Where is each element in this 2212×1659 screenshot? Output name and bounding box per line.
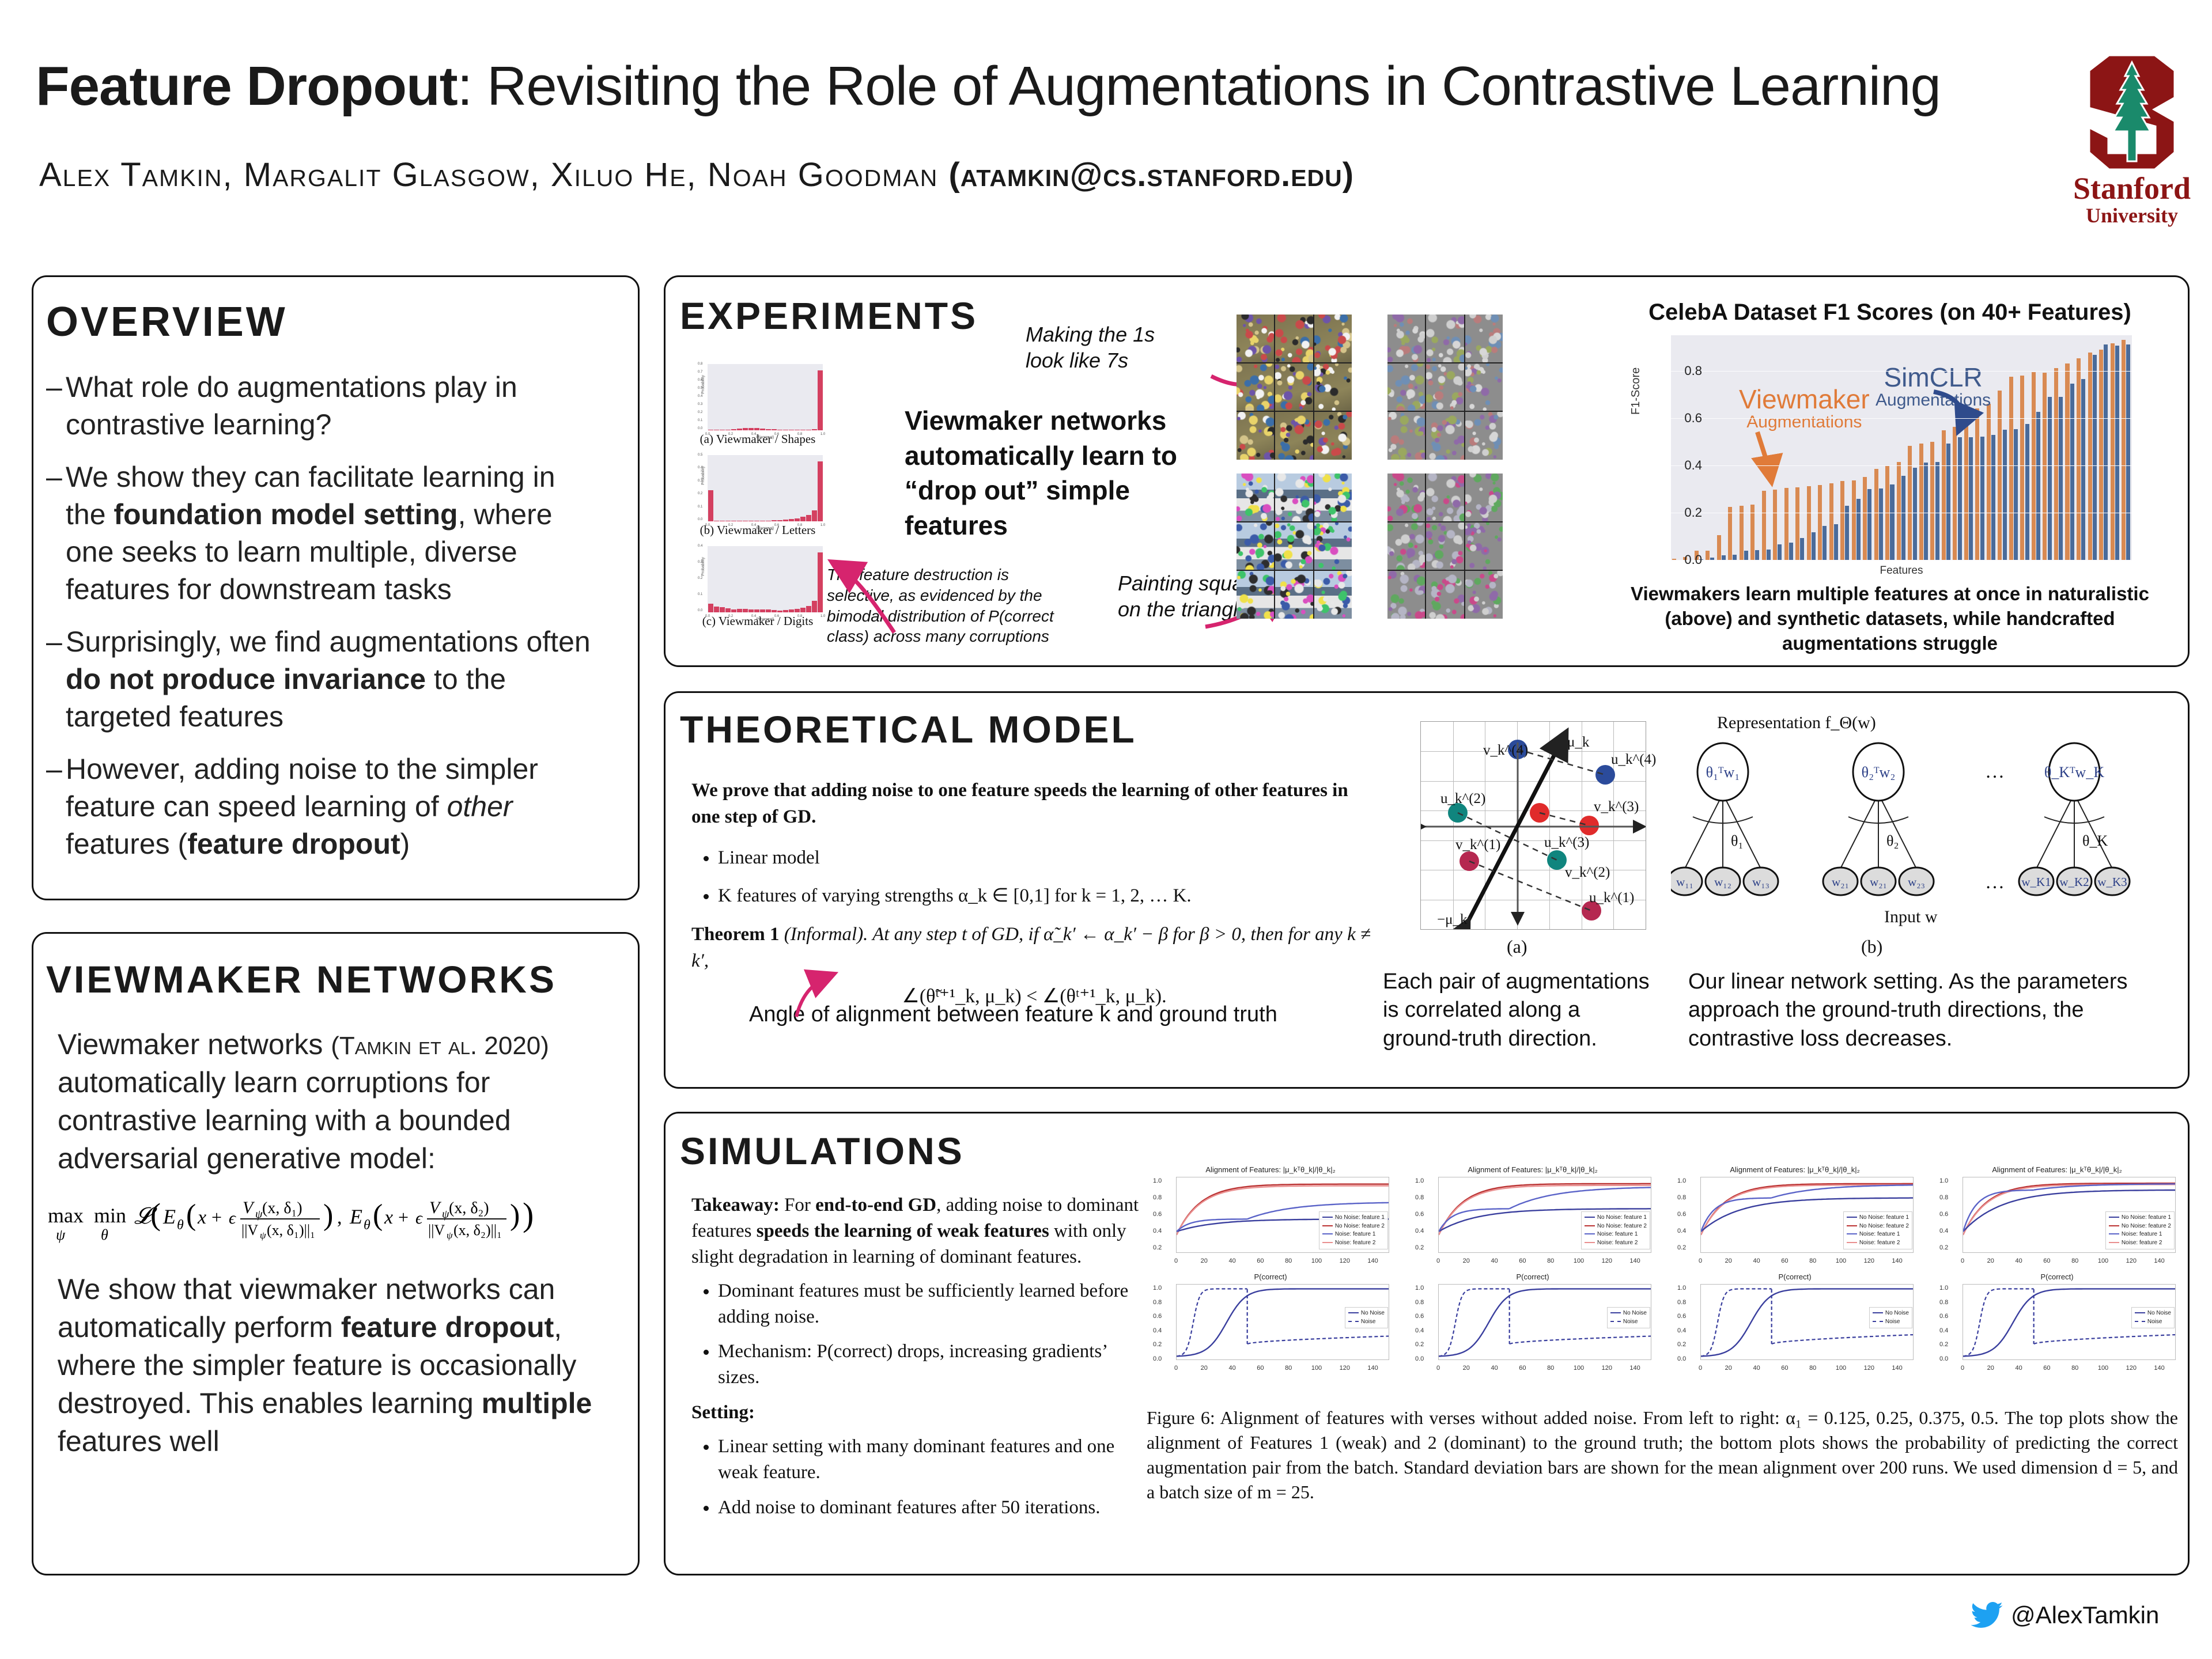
plot-x-tick: 40 bbox=[2015, 1365, 2022, 1372]
svg-text:w₂₁: w₂₁ bbox=[1832, 875, 1849, 889]
plot-y-tick: 0.6 bbox=[1153, 1313, 1162, 1320]
simulation-plot-pair-3: Alignment of Features: |μ_kᵀθ_k|/|θ_k|₂0… bbox=[1674, 1166, 1916, 1373]
histogram-bar bbox=[714, 607, 719, 612]
celeba-bar bbox=[2020, 376, 2024, 560]
histogram-y-tick: 0.0 bbox=[698, 518, 702, 521]
histogram-y-tick: 0.3 bbox=[698, 403, 702, 406]
celeba-bar bbox=[1919, 444, 1923, 560]
histogram-bar bbox=[731, 521, 736, 521]
alignment-plot-title: Alignment of Features: |μ_kᵀθ_k|/|θ_k|₂ bbox=[1150, 1165, 1392, 1174]
plot-y-tick: 1.0 bbox=[1939, 1177, 1948, 1184]
plot-y-tick: 0.8 bbox=[1677, 1299, 1686, 1306]
plot-x-tick: 140 bbox=[1629, 1365, 1640, 1372]
plot-x-tick: 100 bbox=[1574, 1365, 1584, 1372]
plot-y-tick: 0.4 bbox=[1939, 1228, 1948, 1234]
celeba-bar bbox=[1879, 488, 1883, 560]
plot-y-tick: 0.2 bbox=[1677, 1244, 1686, 1251]
plot-y-tick: 0.2 bbox=[1153, 1341, 1162, 1348]
vm-p2-c: features well bbox=[58, 1425, 220, 1457]
histogram-bar bbox=[766, 521, 771, 521]
overview-title: OVERVIEW bbox=[46, 298, 288, 346]
celeba-bar bbox=[2048, 397, 2052, 560]
plot-y-tick: 0.8 bbox=[1677, 1194, 1686, 1201]
celeba-bar bbox=[1812, 532, 1816, 560]
histogram-bar bbox=[714, 430, 719, 430]
celeba-bar bbox=[2111, 343, 2115, 560]
image-grid-car-augmented bbox=[1237, 474, 1352, 619]
image-grid-cell bbox=[1237, 412, 1274, 460]
celeba-bar bbox=[1913, 468, 1917, 560]
plot-y-tick: 0.2 bbox=[1939, 1244, 1948, 1251]
legend-entry: No Noise bbox=[1348, 1309, 1385, 1318]
image-grid-cell bbox=[1387, 522, 1425, 570]
alignment-plot-legend: No Noise: feature 1No Noise: feature 2No… bbox=[1319, 1211, 1388, 1249]
plot-x-tick: 40 bbox=[2015, 1257, 2022, 1264]
title-bold: Feature Dropout bbox=[36, 55, 457, 117]
celeba-bar bbox=[1852, 480, 1856, 560]
theory-body: We prove that adding noise to one featur… bbox=[691, 778, 1377, 1010]
plot-y-tick: 0.6 bbox=[1153, 1211, 1162, 1218]
svg-text:w_K1: w_K1 bbox=[2021, 875, 2051, 889]
image-grid-cell bbox=[1426, 315, 1464, 362]
celeba-bar bbox=[1991, 435, 1995, 560]
plot-x-tick: 80 bbox=[1285, 1365, 1292, 1372]
histogram-bar bbox=[795, 430, 800, 430]
celeba-bar bbox=[1953, 427, 1957, 560]
celeba-bar bbox=[1998, 391, 2002, 560]
image-grid-cell bbox=[1314, 315, 1352, 362]
plot-y-tick: 0.6 bbox=[1415, 1313, 1424, 1320]
plot-y-tick: 0.6 bbox=[1415, 1211, 1424, 1218]
svg-text:(x, δ₁)||₁: (x, δ₁)||₁ bbox=[267, 1222, 315, 1238]
plot-x-tick: 60 bbox=[2043, 1257, 2050, 1264]
histogram-bar bbox=[714, 521, 719, 521]
histogram-digits-plot: 0.40.30.20.10.00.00.20.40.60.81.0Probabi… bbox=[708, 546, 823, 612]
plot-x-tick: 40 bbox=[1491, 1257, 1498, 1264]
histogram-y-tick: 0.8 bbox=[698, 362, 702, 366]
plot-y-tick: 1.0 bbox=[1677, 1177, 1686, 1184]
plot-x-tick: 120 bbox=[1340, 1365, 1350, 1372]
celeba-gridline bbox=[1671, 371, 2132, 372]
histogram-bar bbox=[818, 370, 823, 430]
plot-x-tick: 140 bbox=[2154, 1365, 2164, 1372]
plot-x-tick: 80 bbox=[1809, 1257, 1816, 1264]
svg-text:(: ( bbox=[373, 1199, 383, 1232]
celeba-bar bbox=[1822, 526, 1827, 560]
theory-bullets: Linear model K features of varying stren… bbox=[691, 845, 1377, 909]
plot-y-tick: 1.0 bbox=[1153, 1177, 1162, 1184]
legend-entry: No Noise bbox=[1610, 1309, 1647, 1318]
legend-entry: No Noise: feature 2 bbox=[1322, 1222, 1385, 1231]
plot-x-tick: 100 bbox=[1836, 1257, 1846, 1264]
plot-y-tick: 0.8 bbox=[1153, 1194, 1162, 1201]
celeba-gridline bbox=[1671, 560, 2132, 560]
plot-y-tick: 0.4 bbox=[1415, 1228, 1424, 1234]
plot-y-tick: 1.0 bbox=[1153, 1285, 1162, 1291]
histogram-bar bbox=[777, 520, 782, 521]
pcorrect-plot: P(correct)0.00.20.40.60.81.0020406080100… bbox=[1936, 1274, 2178, 1373]
theorem-statement: Theorem 1 (Informal). At any step t of G… bbox=[691, 922, 1377, 974]
histogram-bar bbox=[720, 521, 725, 521]
svg-text:θ₂: θ₂ bbox=[1886, 832, 1899, 849]
svg-text:θ₁: θ₁ bbox=[1731, 832, 1744, 849]
svg-text:θ_Kᵀw_K: θ_Kᵀw_K bbox=[2044, 764, 2104, 781]
plot-x-tick: 80 bbox=[1285, 1257, 1292, 1264]
histogram-y-label: Probability bbox=[701, 375, 705, 394]
list-item: Add noise to dominant features after 50 … bbox=[718, 1495, 1147, 1521]
plot-y-tick: 0.8 bbox=[1939, 1194, 1948, 1201]
simulations-bullets-1: Dominant features must be sufficiently l… bbox=[691, 1278, 1147, 1391]
image-grid-cell bbox=[1426, 522, 1464, 570]
image-grid-car-perturbation bbox=[1387, 474, 1503, 619]
list-item: What role do augmentations play in contr… bbox=[46, 369, 599, 444]
histogram-bar bbox=[789, 519, 794, 521]
plot-y-tick: 0.4 bbox=[1153, 1228, 1162, 1234]
legend-entry: Noise: feature 1 bbox=[1585, 1230, 1647, 1239]
image-grid-cell bbox=[1465, 571, 1503, 619]
plot-x-tick: 20 bbox=[1987, 1257, 1994, 1264]
celeba-bar bbox=[1744, 551, 1748, 560]
histogram-bar bbox=[806, 515, 811, 521]
simclr-label-small: Augmentations bbox=[1876, 391, 1991, 410]
simulations-bullets-2: Linear setting with many dominant featur… bbox=[691, 1434, 1147, 1521]
pcorrect-plot-legend: No NoiseNoise bbox=[1607, 1307, 1650, 1328]
image-grid-cell bbox=[1275, 412, 1313, 460]
plot-x-tick: 40 bbox=[1753, 1365, 1760, 1372]
viewmaker-citation: (Tamkin et al. 2020) bbox=[331, 1032, 549, 1060]
histogram-bar bbox=[772, 520, 777, 521]
svg-text:θ: θ bbox=[177, 1218, 184, 1233]
scatter-point-label: −μ_k bbox=[1437, 912, 1468, 928]
celeba-bar bbox=[2115, 346, 2119, 560]
histogram-x-label: P(correct) bbox=[708, 435, 823, 440]
celeba-bar bbox=[1840, 481, 1844, 560]
image-grid-cell bbox=[1275, 522, 1313, 570]
theory-title: THEORETICAL MODEL bbox=[680, 707, 1137, 751]
image-grid-digits-augmented bbox=[1237, 315, 1352, 460]
scatter-point-label: μ_k bbox=[1567, 734, 1589, 751]
celeba-bar bbox=[1829, 483, 1833, 560]
histogram-bar bbox=[806, 606, 811, 612]
plot-x-tick: 80 bbox=[1809, 1365, 1816, 1372]
svg-text:ψ: ψ bbox=[260, 1230, 266, 1241]
svg-text:,: , bbox=[337, 1207, 342, 1228]
svg-text:): ) bbox=[523, 1196, 534, 1233]
takeaway-bold-1: end-to-end GD bbox=[815, 1195, 936, 1215]
celeba-bar bbox=[1987, 404, 1991, 560]
celeba-bar bbox=[1930, 442, 1934, 560]
theorem-text: (Informal). At any step t of GD, if α̃_k… bbox=[691, 924, 1371, 971]
legend-entry: Noise: feature 2 bbox=[2109, 1239, 2171, 1248]
svg-text:ψ: ψ bbox=[56, 1226, 66, 1243]
overview-item-2-bold: do not produce invariance bbox=[66, 663, 426, 695]
plot-y-tick: 0.6 bbox=[1677, 1211, 1686, 1218]
list-item: Mechanism: P(correct) drops, increasing … bbox=[718, 1339, 1147, 1391]
histogram-letters: 0.50.40.30.20.10.00.00.20.40.60.81.0Prob… bbox=[691, 455, 824, 537]
histogram-bar bbox=[725, 430, 731, 430]
scatter-point-label: v_k^(1) bbox=[1455, 837, 1500, 853]
plot-x-tick: 60 bbox=[1519, 1365, 1526, 1372]
histogram-bar bbox=[772, 429, 777, 430]
svg-text:+: + bbox=[398, 1207, 409, 1228]
twitter-handle-text: @AlexTamkin bbox=[2011, 1601, 2159, 1629]
celeba-bar bbox=[1717, 535, 1721, 560]
celeba-bar bbox=[1946, 444, 1950, 560]
celeba-bar bbox=[2088, 353, 2092, 560]
legend-entry: No Noise: feature 1 bbox=[1847, 1214, 1909, 1222]
legend-entry: No Noise: feature 2 bbox=[2109, 1222, 2171, 1231]
legend-entry: No Noise bbox=[2135, 1309, 2171, 1318]
image-grid-cell bbox=[1387, 412, 1425, 460]
svg-text:w₁₃: w₁₃ bbox=[1752, 875, 1769, 889]
plot-y-tick: 1.0 bbox=[1677, 1285, 1686, 1291]
plot-x-tick: 120 bbox=[1602, 1365, 1612, 1372]
pcorrect-plot-title: P(correct) bbox=[1150, 1272, 1392, 1281]
figure-b-network-diagram: θ₁ᵀw₁θ₁w₁₁w₁₂w₁₃θ₂ᵀw₂θ₂w₂₁w₂₁w₂₃θ_Kᵀw_Kθ… bbox=[1671, 726, 2178, 927]
plot-x-tick: 100 bbox=[1311, 1365, 1322, 1372]
image-grid-cell bbox=[1426, 474, 1464, 521]
plot-x-tick: 40 bbox=[1228, 1257, 1235, 1264]
plot-x-tick: 20 bbox=[1725, 1365, 1732, 1372]
legend-entry: No Noise bbox=[1873, 1309, 1909, 1318]
overview-item-3-italic: other bbox=[447, 790, 513, 823]
plot-x-tick: 100 bbox=[1311, 1257, 1322, 1264]
histogram-y-tick: 0.7 bbox=[698, 370, 702, 374]
plot-x-tick: 0 bbox=[1699, 1365, 1702, 1372]
histogram-bar bbox=[708, 490, 713, 521]
plot-x-tick: 100 bbox=[1574, 1257, 1584, 1264]
plot-x-tick: 0 bbox=[1174, 1365, 1178, 1372]
plot-x-tick: 100 bbox=[2098, 1365, 2108, 1372]
celeba-bar bbox=[1834, 524, 1838, 560]
alignment-plot-legend: No Noise: feature 1No Noise: feature 2No… bbox=[1843, 1211, 1912, 1249]
celeba-bar bbox=[2059, 397, 2063, 560]
svg-text:w₁₂: w₁₂ bbox=[1714, 875, 1731, 889]
histogram-y-tick: 0.0 bbox=[698, 427, 702, 430]
svg-text:||V: ||V bbox=[241, 1222, 258, 1238]
plot-y-tick: 0.8 bbox=[1153, 1299, 1162, 1306]
histogram-y-label: Probability bbox=[701, 466, 705, 485]
histogram-bar bbox=[818, 552, 823, 612]
plot-x-tick: 60 bbox=[1519, 1257, 1526, 1264]
svg-text:θ: θ bbox=[364, 1218, 370, 1233]
plot-y-tick: 0.4 bbox=[1939, 1327, 1948, 1334]
image-grid-cell bbox=[1387, 315, 1425, 362]
scatter-point-label: u_k^(4) bbox=[1611, 752, 1656, 768]
svg-text:): ) bbox=[510, 1199, 520, 1232]
celeba-gridline bbox=[1671, 465, 2132, 466]
plot-y-tick: 0.6 bbox=[1677, 1313, 1686, 1320]
legend-entry: No Noise: feature 2 bbox=[1585, 1222, 1647, 1231]
plot-x-tick: 120 bbox=[2126, 1257, 2137, 1264]
histogram-letters-plot: 0.50.40.30.20.10.00.00.20.40.60.81.0Prob… bbox=[708, 455, 823, 521]
plot-y-tick: 0.6 bbox=[1939, 1211, 1948, 1218]
svg-text:…: … bbox=[1985, 872, 2005, 893]
theorem-label: Theorem 1 bbox=[691, 924, 779, 945]
plot-y-tick: 0.6 bbox=[1939, 1313, 1948, 1320]
celeba-bar bbox=[1964, 425, 1968, 560]
plot-x-tick: 20 bbox=[1987, 1365, 1994, 1372]
histogram-bar bbox=[812, 429, 817, 430]
list-item: K features of varying strengths α_k ∈ [0… bbox=[718, 883, 1377, 910]
legend-entry: No Noise: feature 1 bbox=[2109, 1214, 2171, 1222]
image-grid-cell bbox=[1237, 474, 1274, 521]
histogram-bar bbox=[795, 518, 800, 521]
image-grid-cell bbox=[1426, 412, 1464, 460]
pcorrect-plot: P(correct)0.00.20.40.60.81.0020406080100… bbox=[1674, 1274, 1916, 1373]
celeba-chart: CelebA Dataset F1 Scores (on 40+ Feature… bbox=[1613, 300, 2166, 651]
plot-x-tick: 0 bbox=[1436, 1365, 1440, 1372]
celeba-bar bbox=[1874, 469, 1878, 560]
histogram-y-tick: 0.0 bbox=[698, 609, 702, 612]
svg-text:||V: ||V bbox=[428, 1222, 445, 1238]
svg-text:w₂₃: w₂₃ bbox=[1908, 875, 1925, 889]
celeba-bar bbox=[2065, 363, 2069, 560]
celeba-y-tick: 0.0 bbox=[1684, 552, 1702, 567]
figure-a-caption: Each pair of augmentations is correlated… bbox=[1383, 968, 1659, 1053]
histogram-y-tick: 0.2 bbox=[698, 492, 702, 495]
celeba-gridline bbox=[1671, 418, 2132, 419]
histogram-bar bbox=[708, 604, 713, 612]
svg-text:…: … bbox=[1985, 761, 2005, 782]
svg-text:θ_K: θ_K bbox=[2082, 832, 2108, 849]
pcorrect-plot-title: P(correct) bbox=[1936, 1272, 2178, 1281]
plot-y-tick: 1.0 bbox=[1415, 1285, 1424, 1291]
celeba-bar bbox=[1980, 437, 1984, 560]
svg-text:x: x bbox=[384, 1207, 393, 1228]
svg-text:w₁₁: w₁₁ bbox=[1676, 875, 1693, 889]
svg-text:min: min bbox=[94, 1204, 126, 1227]
svg-text:θ₁ᵀw₁: θ₁ᵀw₁ bbox=[1706, 764, 1740, 781]
celeba-bar bbox=[1856, 499, 1861, 560]
legend-entry: Noise: feature 2 bbox=[1847, 1239, 1909, 1248]
celeba-x-axis-label: Features bbox=[1671, 565, 2132, 577]
figure-b-label: (b) bbox=[1861, 936, 1882, 957]
histogram-y-tick: 0.2 bbox=[698, 411, 702, 414]
alignment-plot-legend: No Noise: feature 1No Noise: feature 2No… bbox=[2105, 1211, 2175, 1249]
svg-text:V: V bbox=[243, 1198, 255, 1217]
simulation-plot-pair-2: Alignment of Features: |μ_kᵀθ_k|/|θ_k|₂0… bbox=[1412, 1166, 1654, 1373]
histogram-y-tick: 0.5 bbox=[698, 453, 702, 457]
stanford-word-university: University bbox=[2069, 204, 2195, 228]
plot-x-tick: 120 bbox=[1340, 1257, 1350, 1264]
celeba-bar bbox=[2009, 377, 2013, 560]
plot-x-tick: 120 bbox=[1864, 1257, 1874, 1264]
celeba-bar bbox=[1908, 446, 1912, 560]
overview-item-1-bold: foundation model setting bbox=[114, 498, 457, 531]
twitter-handle-block[interactable]: @AlexTamkin bbox=[1971, 1601, 2159, 1629]
histogram-bar bbox=[754, 609, 759, 612]
plot-x-tick: 120 bbox=[1864, 1365, 1874, 1372]
plot-y-tick: 0.8 bbox=[1939, 1299, 1948, 1306]
annotation-making-1s-look-like-7s: Making the 1s look like 7s bbox=[1026, 321, 1198, 373]
histogram-y-tick: 0.1 bbox=[698, 593, 702, 596]
svg-text:ϵ: ϵ bbox=[415, 1209, 424, 1228]
histogram-y-tick: 0.2 bbox=[698, 577, 702, 580]
celeba-bar bbox=[1890, 484, 1894, 560]
plot-y-tick: 0.8 bbox=[1415, 1299, 1424, 1306]
list-item: Surprisingly, we find augmentations ofte… bbox=[46, 623, 599, 736]
celeba-bar bbox=[2043, 373, 2047, 560]
histogram-bar bbox=[800, 608, 806, 612]
celeba-bar bbox=[1807, 486, 1811, 560]
svg-text:+: + bbox=[211, 1207, 222, 1228]
histogram-bar bbox=[789, 609, 794, 612]
plot-x-tick: 120 bbox=[2126, 1365, 2137, 1372]
svg-text:(: ( bbox=[150, 1197, 161, 1232]
viewmaker-objective-equation: max ψ min θ 𝓛 ( E θ ( x + ϵ V ψ (x, δ₁) … bbox=[40, 1187, 628, 1262]
histogram-digits: 0.40.30.20.10.00.00.20.40.60.81.0Probabi… bbox=[691, 546, 824, 628]
author-list: Alex Tamkin, Margalit Glasgow, Xiluo He,… bbox=[39, 156, 1354, 194]
legend-entry: Noise: feature 1 bbox=[2109, 1230, 2171, 1239]
legend-entry: Noise bbox=[1348, 1318, 1385, 1327]
image-grid-cell bbox=[1275, 571, 1313, 619]
celeba-chart-note: Viewmakers learn multiple features at on… bbox=[1613, 582, 2166, 656]
alignment-plot-legend: No Noise: feature 1No Noise: feature 2No… bbox=[1581, 1211, 1650, 1249]
celeba-bar bbox=[1863, 477, 1867, 560]
svg-text:w_K3: w_K3 bbox=[2097, 875, 2127, 889]
plot-x-tick: 140 bbox=[1367, 1365, 1378, 1372]
plot-x-tick: 80 bbox=[2071, 1257, 2078, 1264]
celeba-y-tick: 0.2 bbox=[1684, 505, 1702, 520]
histogram-bar bbox=[743, 428, 748, 430]
plot-x-tick: 0 bbox=[1174, 1257, 1178, 1264]
plot-x-tick: 40 bbox=[1228, 1365, 1235, 1372]
celeba-y-tick: 0.6 bbox=[1684, 411, 1702, 426]
plot-x-tick: 140 bbox=[1367, 1257, 1378, 1264]
celeba-bar bbox=[2070, 384, 2074, 560]
title-rest: : Revisiting the Role of Augmentations i… bbox=[457, 55, 1941, 117]
histogram-bar bbox=[777, 430, 782, 430]
legend-entry: Noise bbox=[1873, 1318, 1909, 1327]
scatter-point-label: u_k^(2) bbox=[1440, 791, 1485, 807]
author-names: Alex Tamkin, Margalit Glasgow, Xiluo He,… bbox=[39, 156, 938, 194]
simulation-plot-pair-4: Alignment of Features: |μ_kᵀθ_k|/|θ_k|₂0… bbox=[1936, 1166, 2178, 1373]
scatter-point-label: v_k^(2) bbox=[1565, 865, 1610, 881]
image-grid-cell bbox=[1237, 363, 1274, 411]
svg-text:max: max bbox=[48, 1204, 84, 1227]
scatter-point-label: v_k^(4) bbox=[1483, 743, 1528, 759]
histogram-bar bbox=[777, 611, 782, 612]
celeba-bar bbox=[1800, 538, 1804, 560]
legend-entry: Noise: feature 2 bbox=[1585, 1239, 1647, 1248]
plot-y-tick: 0.2 bbox=[1415, 1341, 1424, 1348]
image-grid-digits-perturbation bbox=[1387, 315, 1503, 460]
image-grid-cell bbox=[1314, 363, 1352, 411]
celeba-bar bbox=[1897, 462, 1901, 560]
viewmaker-title: VIEWMAKER NETWORKS bbox=[46, 957, 557, 1001]
image-grid-cell bbox=[1314, 474, 1352, 521]
histogram-bar bbox=[818, 461, 823, 521]
histogram-bar bbox=[783, 610, 788, 612]
celeba-bar bbox=[1845, 506, 1849, 560]
plot-x-tick: 120 bbox=[1602, 1257, 1612, 1264]
plot-x-tick: 20 bbox=[1463, 1365, 1470, 1372]
histogram-bar bbox=[737, 609, 742, 612]
image-grid-cell bbox=[1275, 363, 1313, 411]
plot-x-tick: 100 bbox=[1836, 1365, 1846, 1372]
stanford-s-tree-icon bbox=[2069, 52, 2195, 173]
poster-header: Feature Dropout: Revisiting the Role of … bbox=[0, 0, 2212, 253]
list-item: However, adding noise to the simpler fea… bbox=[46, 751, 599, 863]
alignment-plot: Alignment of Features: |μ_kᵀθ_k|/|θ_k|₂0… bbox=[1936, 1166, 2178, 1266]
svg-text:E: E bbox=[162, 1205, 176, 1228]
svg-text:(x, δ₁): (x, δ₁) bbox=[262, 1199, 303, 1217]
image-grid-cell bbox=[1465, 315, 1503, 362]
image-grid-cell bbox=[1465, 412, 1503, 460]
histogram-bar bbox=[760, 429, 765, 430]
legend-entry: No Noise: feature 1 bbox=[1322, 1214, 1385, 1222]
